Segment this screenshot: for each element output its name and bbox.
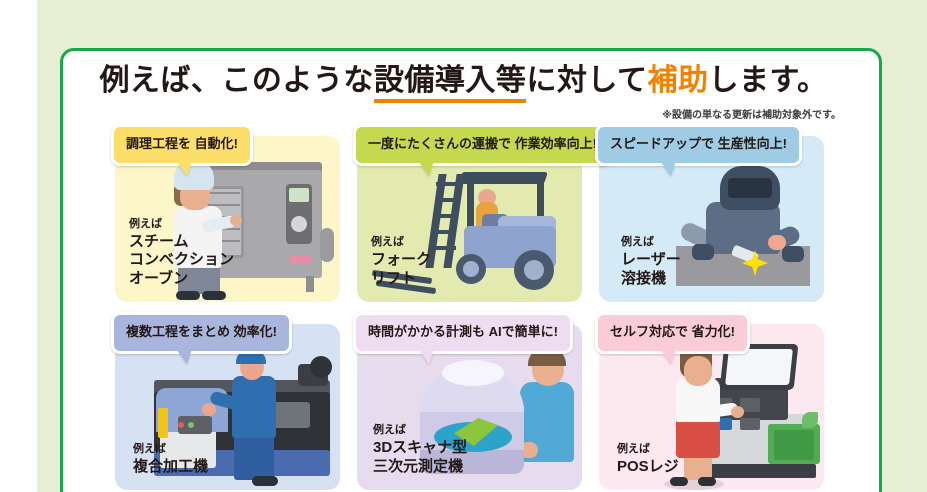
forklift-rung-shape <box>436 182 456 186</box>
page-title: 例えば、このような設備導入等に対して補助します。 <box>0 66 927 96</box>
infographic-root: 例えば、このような設備導入等に対して補助します。 ※設備の単なる更新は補助対象外… <box>0 0 927 492</box>
bubble-laser-welder: スピードアップで 生産性向上! <box>595 124 802 166</box>
chef-shoe-shape <box>202 291 226 300</box>
caption-lead: 例えば <box>129 215 234 231</box>
bubble-text: 一度にたくさんの運搬で 作業効率向上! <box>368 136 597 153</box>
caption-lead: 例えば <box>371 233 431 249</box>
scanner-lens-shape <box>442 360 504 386</box>
welder-glove-shape <box>782 246 804 262</box>
oven-handle-shape <box>290 255 312 264</box>
bubble-text: 複数工程をまとめ 効率化! <box>126 324 277 341</box>
pos-screen-shape <box>725 349 793 385</box>
title-part-1: 例えば、このような <box>99 64 374 97</box>
forklift-rung-shape <box>436 246 456 250</box>
caption-lead: 例えば <box>621 233 681 249</box>
customer-head-shape <box>684 356 712 386</box>
caption-laser-welder: 例えば レーザー 溶接機 <box>621 233 681 288</box>
caption-steam-convection-oven: 例えば スチーム コンベクション オーブン <box>129 215 234 288</box>
caption-forklift: 例えば フォーク リフト <box>371 233 431 288</box>
caption-lead: 例えば <box>373 421 467 437</box>
equipment-card-grid: 調理工程を 自動化! 例えば スチーム コンベクション オーブン <box>115 136 830 490</box>
operator-shoe-shape <box>252 476 278 486</box>
operator-hand-shape <box>202 403 216 416</box>
bubble-steam-convection-oven: 調理工程を 自動化! <box>111 124 253 166</box>
caption-multitasking-machine: 例えば 複合加工機 <box>133 440 208 476</box>
customer-hand-shape <box>731 406 744 418</box>
welder-glove-shape <box>692 244 714 260</box>
equipment-name: フォーク リフト <box>371 251 431 288</box>
oven-tank-shape <box>320 228 334 262</box>
card-forklift: 一度にたくさんの運搬で 作業効率向上! 例えば フォーク リフト <box>357 136 582 302</box>
equipment-name: 3Dスキャナ型 三次元測定機 <box>373 439 467 476</box>
caption-lead: 例えば <box>617 440 679 456</box>
card-pos-register: セルフ対応で 省力化! 例えば POSレジ <box>599 324 824 490</box>
bubble-3d-scanner: 時間がかかる計測も AIで簡単に! <box>353 312 573 354</box>
equipment-name: POSレジ <box>617 458 679 476</box>
title-part-3: します。 <box>709 64 828 97</box>
oven-display-shape <box>289 188 309 202</box>
equipment-name: スチーム コンベクション オーブン <box>129 233 234 288</box>
bubble-multitasking-machine: 複数工程をまとめ 効率化! <box>111 312 292 354</box>
bubble-text: スピードアップで 生産性向上! <box>610 136 787 153</box>
welding-visor-shape <box>728 178 772 198</box>
pos-counter-edge-shape <box>696 464 816 478</box>
equipment-name: 複合加工機 <box>133 458 208 476</box>
card-3d-scanner: 時間がかかる計測も AIで簡単に! 例えば 3Dスキャナ型 三次元測定機 <box>357 324 582 490</box>
bubble-text: 時間がかかる計測も AIで簡単に! <box>368 324 558 341</box>
forklift-hub-shape <box>463 261 479 277</box>
title-accent-term: 補助 <box>648 64 709 97</box>
caption-lead: 例えば <box>133 440 208 456</box>
card-laser-welder: スピードアップで 生産性向上! 例えば レーザー 溶接機 <box>599 136 824 302</box>
oven-rack-shape <box>206 192 240 194</box>
bubble-forklift: 一度にたくさんの運搬で 作業効率向上! <box>353 124 612 166</box>
card-multitasking-machine: 複数工程をまとめ 効率化! 例えば 複合加工機 <box>115 324 340 490</box>
forklift-mast-shape <box>443 174 464 268</box>
bubble-pos-register: セルフ対応で 省力化! <box>595 312 750 354</box>
oven-leg-shape <box>306 276 314 292</box>
title-part-2: に対して <box>526 64 647 97</box>
machine-warning-label-icon <box>158 408 168 438</box>
title-footnote: ※設備の単なる更新は補助対象外です。 <box>662 106 841 121</box>
card-steam-convection-oven: 調理工程を 自動化! 例えば スチーム コンベクション オーブン <box>115 136 340 302</box>
machine-indicator-green-icon <box>188 422 194 428</box>
forklift-rung-shape <box>436 230 456 234</box>
operator-legs-shape <box>234 434 274 480</box>
bubble-text: 調理工程を 自動化! <box>126 136 238 153</box>
customer-skirt-shape <box>676 418 720 458</box>
forklift-canopy-shape <box>458 172 548 184</box>
pos-key-shape <box>740 418 760 430</box>
forklift-hub-shape <box>524 260 544 280</box>
title-underlined-term: 設備導入等 <box>374 64 527 103</box>
oven-knob-shape <box>291 216 307 232</box>
forklift-rung-shape <box>436 198 456 202</box>
machine-spindle-shape <box>310 356 332 378</box>
forklift-rung-shape <box>436 214 456 218</box>
chef-shoe-shape <box>176 291 200 300</box>
bubble-text: セルフ対応で 省力化! <box>610 324 735 341</box>
shopping-basket-inner-shape <box>774 430 814 460</box>
equipment-name: レーザー 溶接機 <box>621 251 681 288</box>
vegetable-icon <box>802 412 818 428</box>
caption-pos-register: 例えば POSレジ <box>617 440 679 476</box>
caption-3d-scanner: 例えば 3Dスキャナ型 三次元測定機 <box>373 421 467 476</box>
customer-shoe-shape <box>670 477 688 486</box>
customer-shoe-shape <box>698 477 716 486</box>
machine-indicator-red-icon <box>178 422 184 428</box>
